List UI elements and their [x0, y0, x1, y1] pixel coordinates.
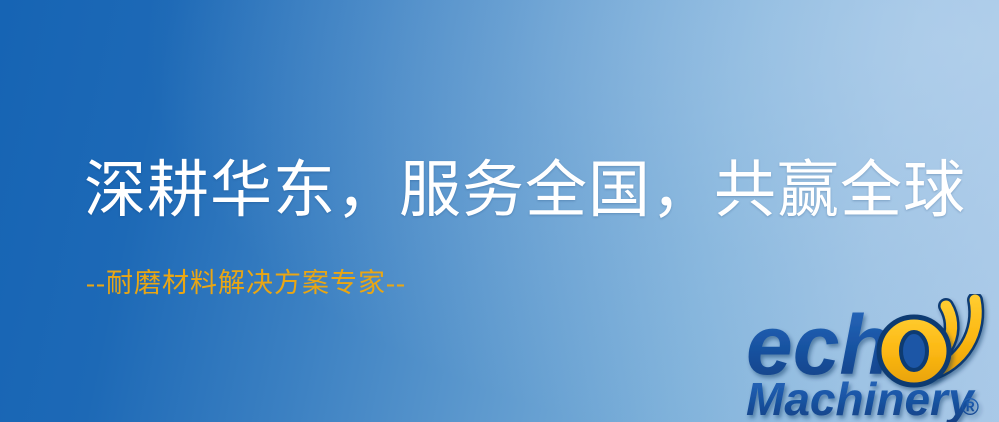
- page-subtitle: --耐磨材料解决方案专家--: [86, 266, 406, 300]
- page-title: 深耕华东，服务全国，共赢全球: [84, 155, 966, 227]
- logo-subword-machinery: Machinery: [746, 373, 976, 422]
- registered-trademark-icon: ®: [961, 394, 979, 421]
- echo-machinery-logo[interactable]: ech Machinery ®: [742, 294, 999, 422]
- hero-banner: 深耕华东，服务全国，共赢全球 --耐磨材料解决方案专家--: [0, 0, 999, 422]
